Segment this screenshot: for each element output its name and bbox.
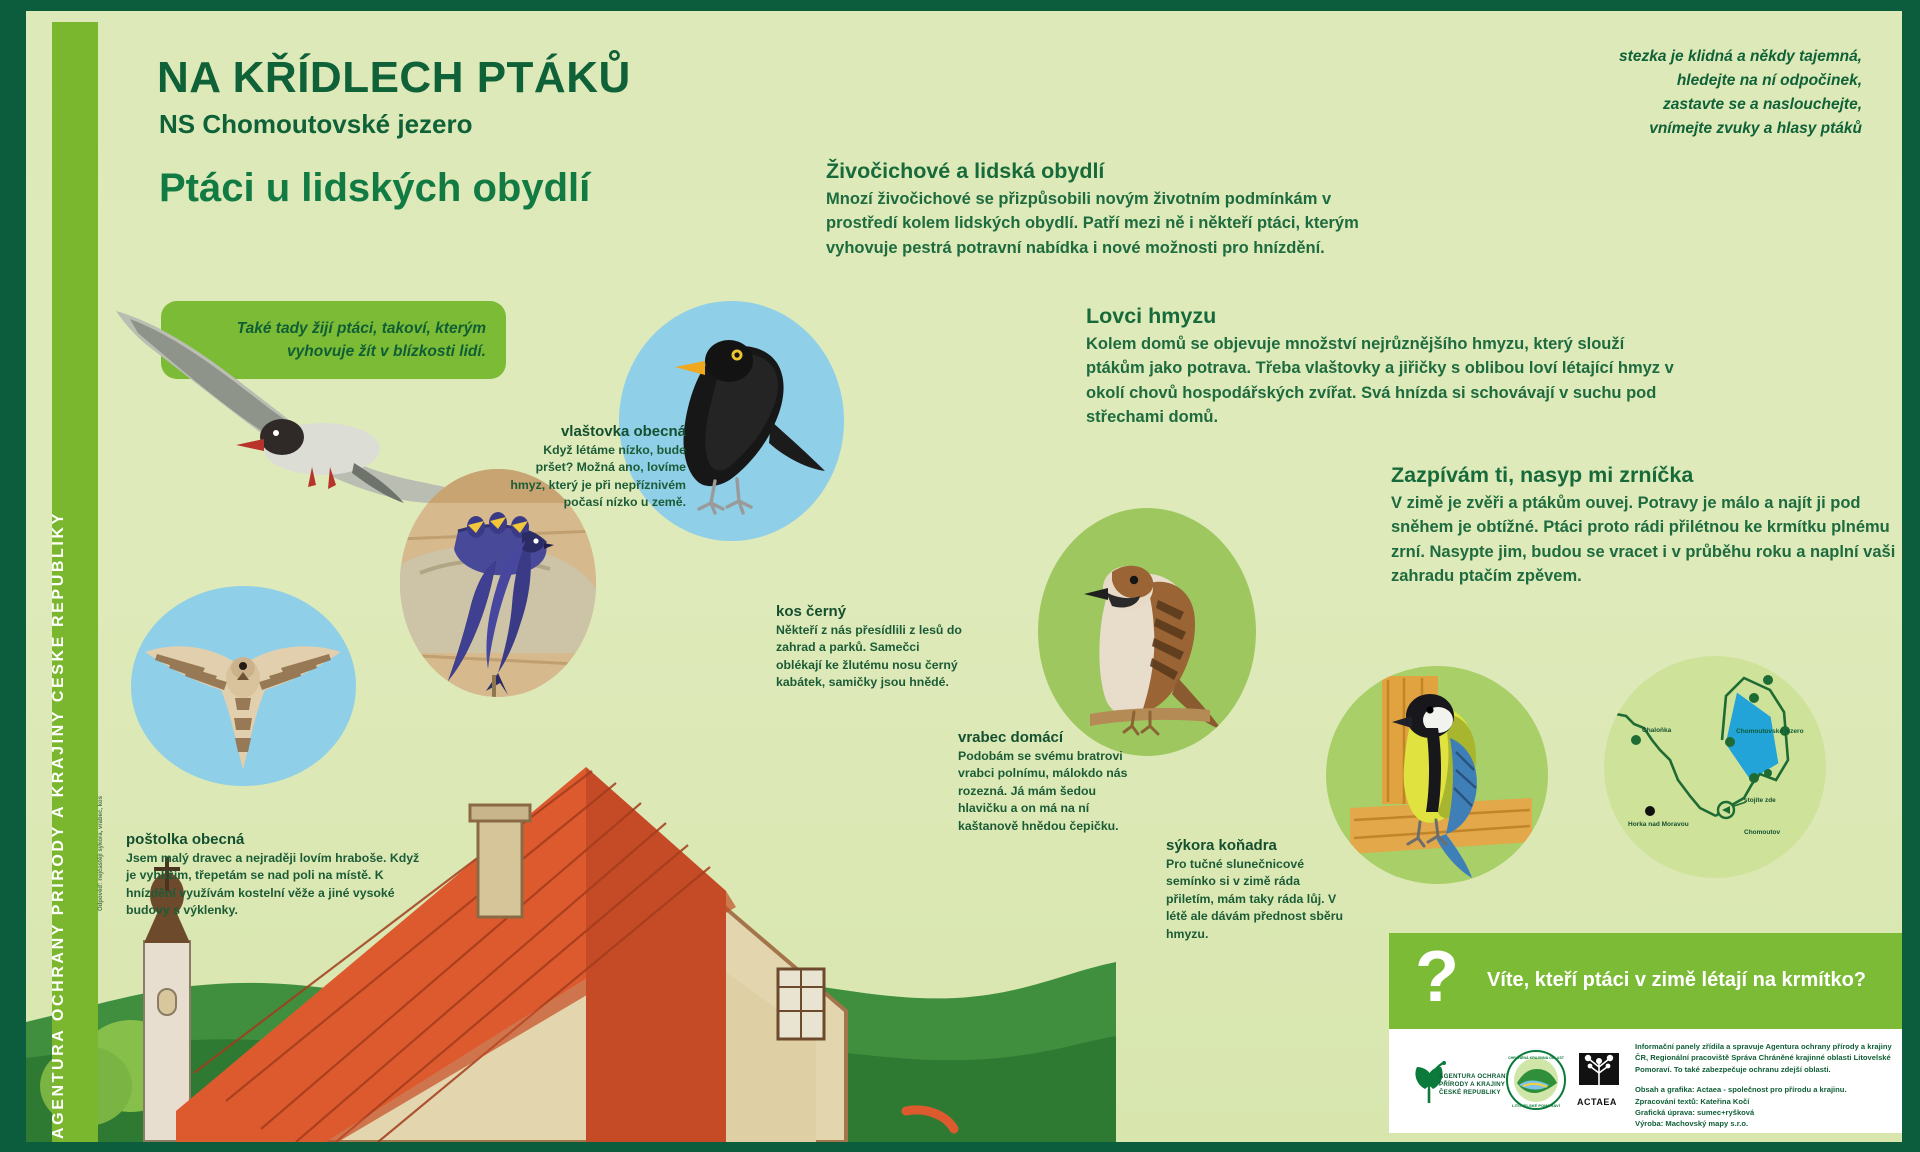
caption-postolka: poštolka obecná Jsem malý dravec a nejra… [126,831,426,920]
section-zivocichove: Živočichové a lidská obydlí Mnozí živoči… [826,159,1386,260]
motto-line-4: vnímejte zvuky a hlasy ptáků [1532,117,1862,141]
section-heading: Zazpívám ti, nasyp mi zrníčka [1391,463,1902,488]
aopk-logo-text: AGENTURA OCHRANY PŘÍRODY A KRAJINY ČESKÉ… [1439,1073,1510,1096]
map-label-chomoutov: Chomoutov [1744,829,1780,836]
bird-text: Když létáme nízko, bude pršet? Možná ano… [506,442,686,512]
bird-text: Jsem malý dravec a nejraději lovím hrabo… [126,850,426,920]
topic-title: Ptáci u lidských obydlí [159,166,590,211]
section-body: Mnozí živočichové se přizpůsobili novým … [826,187,1386,260]
credits-text: Informační panely zřídila a spravuje Age… [1635,1041,1899,1130]
motto-line-1: stezka je klidná a někdy tajemná, [1532,45,1862,69]
credits-line: Grafická úprava: sumec+ryšková [1635,1107,1899,1118]
quiz-box: ? Víte, kteří ptáci v zimě létají na krm… [1389,933,1902,1029]
quiz-question: Víte, kteří ptáci v zimě létají na krmít… [1487,969,1866,992]
section-zazpivam: Zazpívám ti, nasyp mi zrníčka V zimě je … [1391,463,1902,588]
trail-map-inset: Chomoutovské jezero stojíte zde Chaloňka… [1604,656,1826,878]
sidebar-agency-label: AGENTURA OCHRANY PŘÍRODY A KRAJINY ČESKÉ… [52,511,67,1139]
logo-row: AGENTURA OCHRANY PŘÍRODY A KRAJINY ČESKÉ… [1405,1043,1615,1121]
motto-line-2: hledejte na ní odpočinek, [1532,69,1862,93]
trail-subtitle: NS Chomoutovské jezero [159,109,473,140]
actaea-logo-text: ACTAEA [1577,1097,1617,1107]
caption-sykora: sýkora koňadra Pro tučné slunečnicové se… [1166,837,1346,943]
map-label-chalonka: Chaloňka [1642,727,1672,734]
bird-name: poštolka obecná [126,831,426,848]
chko-litovelske-pomoravi-logo-icon: CHRÁNĚNÁ KRAJINNÁ OBLAST LITOVELSKÉ POMO… [1505,1049,1567,1111]
credits-block-1: Informační panely zřídila a spravuje Age… [1635,1041,1899,1075]
section-body: V zimě je zvěři a ptákům ouvej. Potravy … [1391,491,1902,588]
section-heading: Živočichové a lidská obydlí [826,159,1386,184]
question-mark-icon: ? [1415,941,1459,1013]
kestrel-photo-oval [131,586,356,786]
motto-line-3: zastavte se a naslouchejte, [1532,93,1862,117]
quiz-answer-note: Odpověď: nejčastěji sýkora, vrabec, kos [98,796,104,911]
bird-text: Někteří z nás přesídlili z lesů do zahra… [776,622,966,692]
section-body: Kolem domů se objevuje množství nejrůzně… [1086,332,1676,429]
credits-line: Zpracování textů: Kateřina Kočí [1635,1096,1899,1107]
sidebar-vertical-bar: AGENTURA OCHRANY PŘÍRODY A KRAJINY ČESKÉ… [52,22,98,1142]
motto-block: stezka je klidná a někdy tajemná, hledej… [1532,45,1862,141]
svg-text:LITOVELSKÉ POMORAVÍ: LITOVELSKÉ POMORAVÍ [1512,1103,1561,1108]
section-lovci-hmyzu: Lovci hmyzu Kolem domů se objevuje množs… [1086,304,1676,429]
page-title: NA KŘÍDLECH PTÁKŮ [157,55,631,101]
map-label-lake: Chomoutovské jezero [1736,728,1804,735]
bird-name: kos černý [776,603,966,620]
information-panel: AGENTURA OCHRANY PŘÍRODY A KRAJINY ČESKÉ… [0,0,1920,1152]
bird-text: Podobám se svému bratrovi vrabci polnímu… [958,748,1138,835]
credits-block-2: Obsah a grafika: Actaea - společnost pro… [1635,1084,1899,1130]
map-label-horka: Horka nad Moravou [1628,821,1689,828]
credits-line: Obsah a grafika: Actaea - společnost pro… [1635,1084,1899,1095]
sparrow-photo-oval [1038,508,1256,756]
section-heading: Lovci hmyzu [1086,304,1676,329]
caption-vrabec: vrabec domácí Podobám se svému bratrovi … [958,729,1138,835]
great-tit-photo-oval [1326,666,1548,884]
map-label-you-are-here: stojíte zde [1744,797,1776,804]
bird-name: sýkora koňadra [1166,837,1346,854]
caption-vlastovka: vlaštovka obecná Když létáme nízko, bude… [506,423,686,512]
bird-text: Pro tučné slunečnicové semínko si v zimě… [1166,856,1346,943]
panel-inner-frame: AGENTURA OCHRANY PŘÍRODY A KRAJINY ČESKÉ… [26,11,1902,1142]
credits-line: Výroba: Machovský mapy s.r.o. [1635,1118,1899,1129]
bird-name: vlaštovka obecná [506,423,686,440]
caption-kos: kos černý Někteří z nás přesídlili z les… [776,603,966,692]
svg-text:CHRÁNĚNÁ KRAJINNÁ OBLAST: CHRÁNĚNÁ KRAJINNÁ OBLAST [1508,1055,1565,1060]
credits-box: AGENTURA OCHRANY PŘÍRODY A KRAJINY ČESKÉ… [1389,1029,1902,1133]
actaea-logo-icon [1577,1053,1621,1097]
bird-name: vrabec domácí [958,729,1138,746]
